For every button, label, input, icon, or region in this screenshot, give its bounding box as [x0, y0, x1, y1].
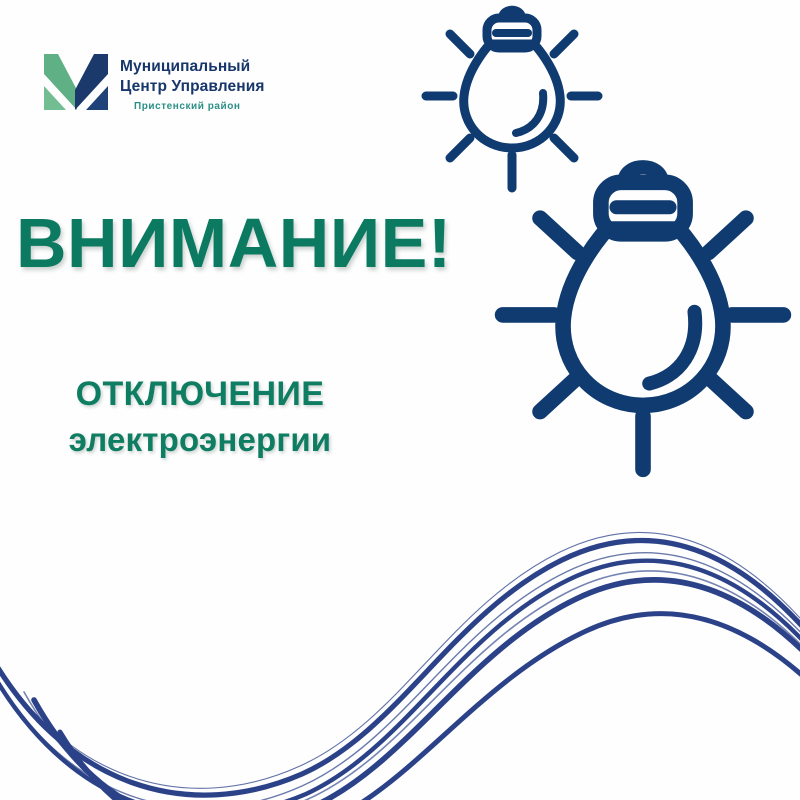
subheading-line-1: ОТКЛЮЧЕНИЕ [0, 374, 400, 414]
wave-flourish-icon [0, 486, 800, 800]
organization-logo: Муниципальный Центр Управления Пристенск… [44, 52, 264, 122]
logo-title-line-1: Муниципальный [120, 57, 264, 77]
light-bulb-icon-large [487, 143, 799, 479]
subheading-block: ОТКЛЮЧЕНИЕ электроэнергии [0, 374, 400, 460]
subheading-line-2: электроэнергии [0, 421, 400, 460]
poster-canvas: Муниципальный Центр Управления Пристенск… [0, 0, 800, 800]
headline-attention: ВНИМАНИЕ! [16, 208, 452, 278]
logo-title-line-2: Центр Управления [120, 77, 264, 97]
logo-subtitle-district: Пристенский район [134, 101, 264, 112]
logo-wordmark: Муниципальный Центр Управления Пристенск… [120, 52, 264, 112]
chevron-m-logo-icon [44, 52, 108, 122]
